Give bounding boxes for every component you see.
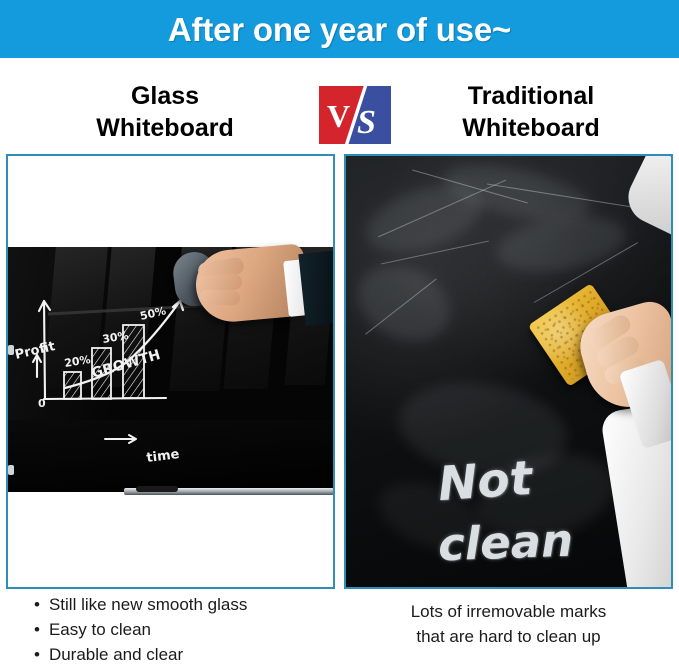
right-heading-line-2: Whiteboard [400, 112, 662, 144]
right-heading-line-1: Traditional [400, 80, 662, 112]
left-heading-line-1: Glass [10, 80, 320, 112]
chart-x-axis-label: time [146, 447, 181, 466]
finger [200, 289, 240, 305]
left-column-heading: Glass Whiteboard [10, 80, 320, 144]
marker-pen [136, 486, 178, 492]
chart-bar-label-1: 20% [63, 353, 91, 370]
list-item-label: Still like new smooth glass [49, 593, 247, 618]
traditional-whiteboard-photo: Not clean [346, 156, 671, 587]
chart-bar-label-3: 50% [139, 304, 168, 323]
versus-letter-v: V [327, 100, 350, 132]
board-mount-clip [8, 465, 14, 475]
list-item: • Durable and clear [34, 643, 334, 668]
left-image-panel: Profit 0 GROWTH 20% 30% 50% 75% time [6, 154, 335, 589]
versus-letter-s: S [357, 106, 376, 140]
bullet-icon: • [34, 618, 40, 643]
bullet-icon: • [34, 643, 40, 668]
page-title: After one year of use~ [168, 13, 511, 46]
right-drawback-caption: Lots of irremovable marks that are hard … [344, 600, 673, 649]
list-item: • Easy to clean [34, 618, 334, 643]
bullet-icon: • [34, 593, 40, 618]
list-item: • Still like new smooth glass [34, 593, 334, 618]
chart-origin-label: 0 [38, 397, 46, 410]
list-item-label: Durable and clear [49, 643, 183, 668]
comparison-infographic: After one year of use~ Glass Whiteboard … [0, 0, 679, 669]
versus-badge-icon: V S [319, 86, 391, 144]
glass-whiteboard-photo: Profit 0 GROWTH 20% 30% 50% 75% time [8, 156, 333, 587]
suit-sleeve [298, 250, 335, 326]
right-caption-line-2: that are hard to clean up [344, 625, 673, 650]
chalk-text-not: Not [436, 451, 534, 512]
left-benefits-list: • Still like new smooth glass • Easy to … [34, 593, 334, 668]
right-column-heading: Traditional Whiteboard [400, 80, 662, 144]
shoulder [620, 156, 671, 236]
list-item-label: Easy to clean [49, 618, 151, 643]
right-caption-line-1: Lots of irremovable marks [344, 600, 673, 625]
chalk-smudge [493, 208, 630, 280]
board-mount-clip [8, 345, 14, 355]
right-image-panel: Not clean [344, 154, 673, 589]
header-banner: After one year of use~ [0, 0, 679, 58]
chalk-text-clean: clean [437, 514, 574, 572]
left-heading-line-2: Whiteboard [10, 112, 320, 144]
